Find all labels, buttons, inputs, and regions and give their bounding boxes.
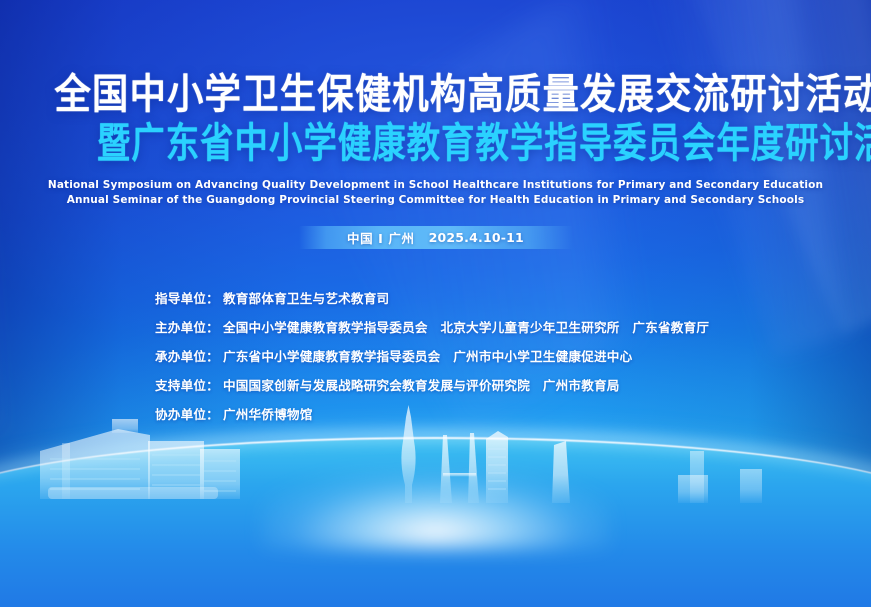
organizer-row: 承办单位： 广东省中小学健康教育教学指导委员会 广州市中小学卫生健康促进中心 xyxy=(155,346,709,375)
organizer-list: 指导单位： 教育部体育卫生与艺术教育司 主办单位： 全国中小学健康教育教学指导委… xyxy=(155,288,709,433)
title-line-2: 暨广东省中小学健康教育教学指导委员会年度研讨活动 xyxy=(97,119,871,168)
date-text: 2025.4.10-11 xyxy=(429,230,524,245)
organizer-row: 指导单位： 教育部体育卫生与艺术教育司 xyxy=(155,288,709,317)
organizer-label: 指导单位： xyxy=(155,288,219,307)
poster-title: 全国中小学卫生保健机构高质量发展交流研讨活动 暨广东省中小学健康教育教学指导委员… xyxy=(0,70,871,168)
organizer-value: 全国中小学健康教育教学指导委员会 北京大学儿童青少年卫生研究所 广东省教育厅 xyxy=(223,317,709,336)
poster-subtitle: National Symposium on Advancing Quality … xyxy=(0,178,871,208)
organizer-row: 主办单位： 全国中小学健康教育教学指导委员会 北京大学儿童青少年卫生研究所 广东… xyxy=(155,317,709,346)
date-location-banner: 中国 I 广州 2025.4.10-11 xyxy=(0,226,871,249)
organizer-value: 广州华侨博物馆 xyxy=(223,404,313,423)
organizer-label: 协办单位： xyxy=(155,404,219,423)
organizer-row: 协办单位： 广州华侨博物馆 xyxy=(155,404,709,433)
subtitle-line-2: Annual Seminar of the Guangdong Provinci… xyxy=(0,193,871,208)
organizer-label: 支持单位： xyxy=(155,375,219,394)
title-line-1: 全国中小学卫生保健机构高质量发展交流研讨活动 xyxy=(55,70,871,119)
organizer-label: 主办单位： xyxy=(155,317,219,336)
organizer-value: 中国国家创新与发展战略研究会教育发展与评价研究院 广州市教育局 xyxy=(223,375,620,394)
location-text: 中国 I 广州 xyxy=(347,228,415,247)
conference-poster: 全国中小学卫生保健机构高质量发展交流研讨活动 暨广东省中小学健康教育教学指导委员… xyxy=(0,0,871,607)
organizer-value: 教育部体育卫生与艺术教育司 xyxy=(223,288,389,307)
organizer-value: 广东省中小学健康教育教学指导委员会 广州市中小学卫生健康促进中心 xyxy=(223,346,632,365)
subtitle-line-1: National Symposium on Advancing Quality … xyxy=(0,178,871,193)
organizer-row: 支持单位： 中国国家创新与发展战略研究会教育发展与评价研究院 广州市教育局 xyxy=(155,375,709,404)
organizer-label: 承办单位： xyxy=(155,346,219,365)
